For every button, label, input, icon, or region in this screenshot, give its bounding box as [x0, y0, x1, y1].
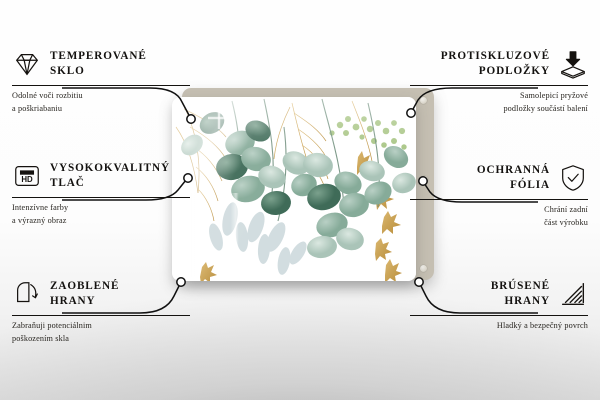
glass-board-front [172, 97, 416, 281]
ultra-hd-icon: HD [12, 161, 42, 191]
feature-subtitle: Zabraňuji potenciálnim poškozením skla [12, 320, 190, 345]
svg-text:HD: HD [21, 175, 33, 184]
feature-hd-print: HD VYSOKOKVALITNÝ TLAČ Intenzívne farby … [12, 158, 190, 227]
feature-title: ZAOBLENÉ HRANY [50, 279, 119, 309]
shield-check-icon [558, 163, 588, 193]
feature-subtitle: Hladký a bezpečný povrch [410, 320, 588, 332]
feature-anti-slip-pads: PROTISKLUZOVÉ PODLOŽKY Samolepicí pryžov… [410, 46, 588, 115]
feature-header: ZAOBLENÉ HRANY [12, 276, 190, 312]
feature-title: OCHRANNÁ FÓLIA [477, 163, 550, 193]
divider [410, 199, 588, 200]
feature-subtitle: Intenzívne farby a výrazný obraz [12, 202, 190, 227]
eucalyptus-artwork [172, 97, 416, 281]
infographic-canvas: TEMPEROVANÉ SKLO Odolné voči rozbitiu a … [0, 0, 600, 400]
divider [12, 315, 190, 316]
arrow-onto-pad-icon [558, 49, 588, 79]
feature-header: HD VYSOKOKVALITNÝ TLAČ [12, 158, 190, 194]
feature-title: VYSOKOKVALITNÝ TLAČ [50, 161, 170, 191]
anti-slip-pad [420, 265, 427, 272]
feature-subtitle: Odolné voči rozbitiu a poškriabaniu [12, 90, 190, 115]
divider [410, 85, 588, 86]
feature-header: BRÚSENÉ HRANY [410, 276, 588, 312]
feature-title: BRÚSENÉ HRANY [491, 279, 550, 309]
product-image [172, 92, 430, 284]
feature-rounded-edges: ZAOBLENÉ HRANY Zabraňuji potenciálnim po… [12, 276, 190, 345]
divider [12, 197, 190, 198]
hatched-triangle-icon [558, 279, 588, 309]
feature-title: PROTISKLUZOVÉ PODLOŽKY [441, 49, 550, 79]
rounded-corner-icon [12, 279, 42, 309]
feature-header: PROTISKLUZOVÉ PODLOŽKY [410, 46, 588, 82]
diamond-icon [12, 49, 42, 79]
feature-header: TEMPEROVANÉ SKLO [12, 46, 190, 82]
divider [410, 315, 588, 316]
feature-subtitle: Chrání zadní část výrobku [410, 204, 588, 229]
feature-tempered-glass: TEMPEROVANÉ SKLO Odolné voči rozbitiu a … [12, 46, 190, 115]
divider [12, 85, 190, 86]
feature-protective-foil: OCHRANNÁ FÓLIA Chrání zadní část výrobku [410, 160, 588, 229]
feature-title: TEMPEROVANÉ SKLO [50, 49, 147, 79]
feature-subtitle: Samolepicí pryžové podložky součástí bal… [410, 90, 588, 115]
feature-header: OCHRANNÁ FÓLIA [410, 160, 588, 196]
feature-brushed-edges: BRÚSENÉ HRANY Hladký a bezpečný povrch [410, 276, 588, 333]
